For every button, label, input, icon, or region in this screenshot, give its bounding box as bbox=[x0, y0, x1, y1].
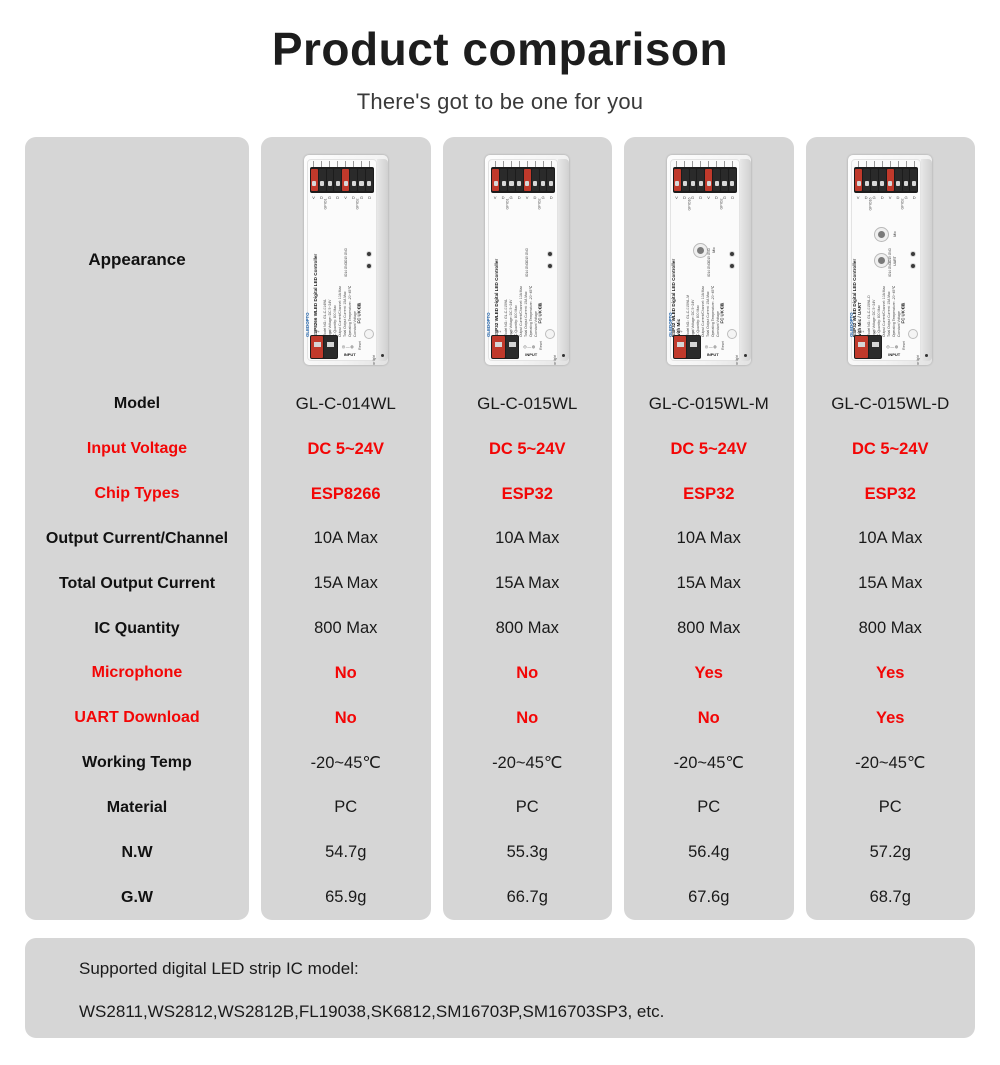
page-title: Product comparison bbox=[0, 24, 1000, 75]
terminal-pin bbox=[516, 169, 523, 191]
cell-uart-download-4: Yes bbox=[806, 696, 976, 741]
device-illustration: VDGDVDGDGPIO16GPIO2GLEDOPTOESP32 WLED Di… bbox=[848, 155, 932, 365]
cell-net-weight-3: 56.4g bbox=[624, 830, 794, 875]
product-image-1: VDGDVDGDGPIO1GPIO2GLEDOPTOESP8266 WLED D… bbox=[261, 137, 431, 382]
cell-working-temp-2: -20~45℃ bbox=[443, 741, 613, 786]
input-terminal-block bbox=[854, 335, 882, 359]
cell-total-output-current-1: 15A Max bbox=[261, 561, 431, 606]
io-pad-label: IO15 GND bbox=[344, 248, 348, 263]
reset-button[interactable] bbox=[908, 329, 918, 339]
input-label: INPUT bbox=[525, 352, 537, 357]
terminal-pin bbox=[895, 169, 902, 191]
terminal-pin bbox=[674, 169, 681, 191]
terminal-pin bbox=[540, 169, 547, 191]
row-label-microphone: Microphone bbox=[25, 651, 249, 696]
cell-input-voltage-4: DC 5~24V bbox=[806, 427, 976, 472]
pin-label: G bbox=[542, 195, 545, 200]
row-label-gross-weight: G.W bbox=[25, 875, 249, 920]
reset-label: Reset bbox=[902, 341, 906, 350]
input-terminal-block bbox=[310, 335, 338, 359]
footer-ic-list: WS2811,WS2812,WS2812B,FL19038,SK6812,SM1… bbox=[79, 1003, 921, 1022]
device-illustration: VDGDVDGDGPIO16GPIO2GLEDOPTOESP32 WLED Di… bbox=[667, 155, 751, 365]
cell-input-voltage-2: DC 5~24V bbox=[443, 427, 613, 472]
indicator-light bbox=[744, 354, 747, 357]
output-terminal-block bbox=[310, 167, 374, 193]
terminal-pin bbox=[532, 169, 539, 191]
pin-label: D bbox=[699, 195, 702, 200]
cell-input-voltage-3: DC 5~24V bbox=[624, 427, 794, 472]
comparison-grid: Appearance Model Input Voltage Chip Type… bbox=[25, 137, 975, 920]
pin-labels: VDGDVDGD bbox=[673, 195, 737, 200]
certification-marks: CEUK CAFC bbox=[352, 300, 366, 319]
cell-microphone-4: Yes bbox=[806, 651, 976, 696]
microphone-label: Mic bbox=[893, 231, 897, 237]
pin-label: V bbox=[857, 195, 860, 200]
row-label-uart-download: UART Download bbox=[25, 696, 249, 741]
appearance-label-cell: Appearance bbox=[25, 137, 249, 382]
pin-label: V bbox=[675, 195, 678, 200]
spec-line: Total Output Current: 15A Max bbox=[887, 291, 891, 337]
io-pad-label: IO14 GND bbox=[344, 262, 348, 277]
page-header: Product comparison There's got to be one… bbox=[0, 0, 1000, 115]
cell-gross-weight-3: 67.6g bbox=[624, 875, 794, 920]
microphone-label: Mic bbox=[712, 247, 716, 253]
product-column-1[interactable]: VDGDVDGDGPIO1GPIO2GLEDOPTOESP8266 WLED D… bbox=[261, 137, 431, 920]
io-button bbox=[547, 251, 553, 257]
cell-chip-type-4: ESP32 bbox=[806, 472, 976, 517]
terminal-pin bbox=[358, 169, 365, 191]
input-pin-positive bbox=[855, 336, 868, 358]
pin-label: D bbox=[534, 195, 537, 200]
cell-gross-weight-4: 68.7g bbox=[806, 875, 976, 920]
reset-label: Reset bbox=[358, 341, 362, 350]
row-label-model: Model bbox=[25, 382, 249, 427]
supported-ic-footer: Supported digital LED strip IC model: WS… bbox=[25, 938, 975, 1038]
io-pad-label: IO14 GND bbox=[888, 262, 892, 277]
input-pin-positive bbox=[492, 336, 505, 358]
product-image-4: VDGDVDGDGPIO16GPIO2GLEDOPTOESP32 WLED Di… bbox=[806, 137, 976, 382]
certification-marks: CEUK CAFC bbox=[533, 300, 547, 319]
silkscreen-text: GLEDOPTOESP32 WLED Digital LED Controlle… bbox=[489, 233, 553, 341]
input-terminal-block bbox=[673, 335, 701, 359]
input-pin-label: V- bbox=[873, 330, 876, 334]
pin-label: V bbox=[344, 195, 347, 200]
silkscreen-text: GLEDOPTOESP32 WLED Digital LED Controlle… bbox=[852, 233, 916, 341]
cell-model-3: GL-C-015WL-M bbox=[624, 382, 794, 427]
gpio-label: GPIO16 bbox=[869, 197, 873, 210]
cell-microphone-3: Yes bbox=[624, 651, 794, 696]
product-column-2[interactable]: VDGDVDGDGPIO1GPIO2GLEDOPTOESP32 WLED Dig… bbox=[443, 137, 613, 920]
spec-line: Output Current/Channel: 10A Max bbox=[882, 285, 886, 336]
io-button bbox=[910, 251, 916, 257]
terminal-pin bbox=[500, 169, 507, 191]
microphone-icon bbox=[693, 243, 708, 258]
input-pin-negative bbox=[506, 336, 519, 358]
input-pin-label: V+ bbox=[497, 330, 502, 334]
io-button bbox=[366, 263, 372, 269]
pin-label: G bbox=[873, 195, 876, 200]
io-pad-label: IO14 GND bbox=[707, 262, 711, 277]
spec-line: Output Current/Channel: 10A Max bbox=[519, 285, 523, 336]
gpio-labels: GPIO1GPIO2 bbox=[310, 202, 374, 206]
dimension-label: 3.15 inch (80.0mm) bbox=[387, 185, 388, 211]
cell-model-4: GL-C-015WL-D bbox=[806, 382, 976, 427]
pin-label: G bbox=[905, 195, 908, 200]
pin-label: V bbox=[526, 195, 529, 200]
terminal-pin bbox=[524, 169, 531, 191]
cell-microphone-1: No bbox=[261, 651, 431, 696]
terminal-pin bbox=[705, 169, 712, 191]
row-label-ic-quantity: IC Quantity bbox=[25, 606, 249, 651]
cell-uart-download-2: No bbox=[443, 696, 613, 741]
pin-label: D bbox=[731, 195, 734, 200]
polarity-icon: ◎—◍ bbox=[886, 344, 898, 349]
io-button bbox=[366, 251, 372, 257]
cell-total-output-current-4: 15A Max bbox=[806, 561, 976, 606]
terminal-pin bbox=[682, 169, 689, 191]
pin-label: G bbox=[328, 195, 331, 200]
terminal-pin bbox=[903, 169, 910, 191]
io-pad-label: IO15 GND bbox=[888, 248, 892, 263]
microphone-icon bbox=[874, 227, 889, 242]
cell-total-output-current-2: 15A Max bbox=[443, 561, 613, 606]
io-pad-label: IO14 GND bbox=[525, 262, 529, 277]
cell-net-weight-2: 55.3g bbox=[443, 830, 613, 875]
reset-label: Reset bbox=[539, 341, 543, 350]
brand-name: GLEDOPTO bbox=[305, 312, 310, 337]
indicator-light bbox=[562, 354, 565, 357]
input-pin-positive bbox=[311, 336, 324, 358]
terminal-pin bbox=[350, 169, 357, 191]
indicator-light-label: Indicator light bbox=[372, 355, 376, 365]
row-label-material: Material bbox=[25, 785, 249, 830]
terminal-pin bbox=[855, 169, 862, 191]
input-pin-positive bbox=[674, 336, 687, 358]
gpio-label: GPIO1 bbox=[505, 198, 509, 209]
pin-label: D bbox=[913, 195, 916, 200]
input-pin-negative bbox=[869, 336, 882, 358]
input-label: INPUT bbox=[888, 352, 900, 357]
pin-label: V bbox=[312, 195, 315, 200]
pin-label: G bbox=[691, 195, 694, 200]
gpio-labels: GPIO16GPIO2 bbox=[673, 202, 737, 206]
cert-mark: FC bbox=[356, 309, 361, 323]
cell-model-2: GL-C-015WL bbox=[443, 382, 613, 427]
terminal-pin bbox=[366, 169, 373, 191]
terminal-pin bbox=[327, 169, 334, 191]
pin-label: D bbox=[683, 195, 686, 200]
input-pin-label: V+ bbox=[315, 330, 320, 334]
gpio-label: GPIO2 bbox=[901, 198, 905, 209]
cell-material-4: PC bbox=[806, 785, 976, 830]
pin-label: D bbox=[865, 195, 868, 200]
pin-label: D bbox=[518, 195, 521, 200]
io-button bbox=[729, 251, 735, 257]
pin-labels: VDGDVDGD bbox=[310, 195, 374, 200]
pin-label: V bbox=[707, 195, 710, 200]
terminal-pin bbox=[690, 169, 697, 191]
pin-label: D bbox=[715, 195, 718, 200]
uart-label: UART bbox=[893, 256, 897, 266]
indicator-light bbox=[925, 354, 928, 357]
reset-button[interactable] bbox=[727, 329, 737, 339]
row-label-appearance: Appearance bbox=[88, 250, 185, 270]
spec-line: Total Output Current: 15A Max bbox=[524, 291, 528, 337]
dimension-label: 3.15 inch (80.0mm) bbox=[931, 185, 932, 211]
spec-line: Output Current/Channel: 10A Max bbox=[701, 285, 705, 336]
device-title: ESP32 WLED Digital LED Controllerwith Mi… bbox=[852, 258, 862, 336]
io-pad-label: IO15 GND bbox=[525, 248, 529, 263]
certification-marks: CEUK CAFC bbox=[715, 300, 729, 319]
terminal-pin bbox=[492, 169, 499, 191]
cell-working-temp-1: -20~45℃ bbox=[261, 741, 431, 786]
cell-material-2: PC bbox=[443, 785, 613, 830]
row-label-input-voltage: Input Voltage bbox=[25, 427, 249, 472]
polarity-icon: ◎—◍ bbox=[523, 344, 535, 349]
cert-mark: FC bbox=[538, 309, 543, 323]
terminal-pin bbox=[910, 169, 917, 191]
cell-input-voltage-1: DC 5~24V bbox=[261, 427, 431, 472]
certification-marks: CEUK CAFC bbox=[896, 300, 910, 319]
terminal-pin bbox=[721, 169, 728, 191]
terminal-screws bbox=[854, 161, 918, 167]
terminal-pin bbox=[871, 169, 878, 191]
terminal-pin bbox=[319, 169, 326, 191]
cell-model-1: GL-C-014WL bbox=[261, 382, 431, 427]
io-button bbox=[910, 263, 916, 269]
device-title: ESP32 WLED Digital LED Controller bbox=[494, 258, 499, 336]
cell-working-temp-4: -20~45℃ bbox=[806, 741, 976, 786]
indicator-light-label: Indicator light bbox=[916, 355, 920, 365]
pin-label: D bbox=[881, 195, 884, 200]
row-label-column: Appearance Model Input Voltage Chip Type… bbox=[25, 137, 249, 920]
cell-material-1: PC bbox=[261, 785, 431, 830]
input-pin-negative bbox=[687, 336, 700, 358]
device-illustration: VDGDVDGDGPIO1GPIO2GLEDOPTOESP32 WLED Dig… bbox=[485, 155, 569, 365]
cell-output-current-channel-3: 10A Max bbox=[624, 516, 794, 561]
terminal-pin bbox=[879, 169, 886, 191]
pin-label: D bbox=[502, 195, 505, 200]
gpio-label: GPIO2 bbox=[356, 198, 360, 209]
cell-ic-quantity-2: 800 Max bbox=[443, 606, 613, 651]
pin-labels: VDGDVDGD bbox=[491, 195, 555, 200]
cell-chip-type-2: ESP32 bbox=[443, 472, 613, 517]
terminal-pin bbox=[547, 169, 554, 191]
gpio-label: GPIO2 bbox=[537, 198, 541, 209]
row-label-output-current-channel: Output Current/Channel bbox=[25, 516, 249, 561]
indicator-light-label: Indicator light bbox=[553, 355, 557, 365]
reset-button[interactable] bbox=[545, 329, 555, 339]
cert-mark: FC bbox=[719, 309, 724, 323]
input-pin-label: V- bbox=[510, 330, 513, 334]
input-pin-labels: V+V- bbox=[311, 330, 337, 334]
cell-ic-quantity-4: 800 Max bbox=[806, 606, 976, 651]
device-title: ESP8266 WLED Digital LED Controller bbox=[313, 253, 318, 336]
cell-uart-download-3: No bbox=[624, 696, 794, 741]
device-illustration: VDGDVDGDGPIO1GPIO2GLEDOPTOESP8266 WLED D… bbox=[304, 155, 388, 365]
cell-microphone-2: No bbox=[443, 651, 613, 696]
cell-output-current-channel-1: 10A Max bbox=[261, 516, 431, 561]
reset-button[interactable] bbox=[364, 329, 374, 339]
terminal-pin bbox=[508, 169, 515, 191]
product-image-3: VDGDVDGDGPIO16GPIO2GLEDOPTOESP32 WLED Di… bbox=[624, 137, 794, 382]
terminal-screws bbox=[310, 161, 374, 167]
input-pin-labels: V+V- bbox=[674, 330, 700, 334]
brand-name: GLEDOPTO bbox=[486, 312, 491, 337]
cell-ic-quantity-1: 800 Max bbox=[261, 606, 431, 651]
polarity-icon: ◎—◍ bbox=[342, 344, 354, 349]
pin-labels: VDGDVDGD bbox=[854, 195, 918, 200]
terminal-pin bbox=[342, 169, 349, 191]
io-button bbox=[547, 263, 553, 269]
device-title: ESP32 WLED Digital LED Controllerwith Mi… bbox=[671, 258, 681, 336]
pin-label: D bbox=[897, 195, 900, 200]
spec-line: Total Output Current: 15A Max bbox=[343, 291, 347, 337]
row-label-total-output-current: Total Output Current bbox=[25, 561, 249, 606]
terminal-pin bbox=[334, 169, 341, 191]
pin-label: D bbox=[550, 195, 553, 200]
gpio-label: GPIO2 bbox=[719, 198, 723, 209]
cell-output-current-channel-2: 10A Max bbox=[443, 516, 613, 561]
pin-label: D bbox=[352, 195, 355, 200]
product-column-4[interactable]: VDGDVDGDGPIO16GPIO2GLEDOPTOESP32 WLED Di… bbox=[806, 137, 976, 920]
cell-chip-type-1: ESP8266 bbox=[261, 472, 431, 517]
input-pin-label: V+ bbox=[678, 330, 683, 334]
page-subtitle: There's got to be one for you bbox=[0, 89, 1000, 115]
input-terminal-block bbox=[491, 335, 519, 359]
cell-net-weight-4: 57.2g bbox=[806, 830, 976, 875]
pin-label: D bbox=[336, 195, 339, 200]
row-label-working-temp: Working Temp bbox=[25, 741, 249, 786]
io-button bbox=[729, 263, 735, 269]
row-label-net-weight: N.W bbox=[25, 830, 249, 875]
terminal-pin bbox=[863, 169, 870, 191]
cell-working-temp-3: -20~45℃ bbox=[624, 741, 794, 786]
io-pad-label: IO15 GND bbox=[707, 248, 711, 263]
cert-mark: FC bbox=[901, 309, 906, 323]
cell-uart-download-1: No bbox=[261, 696, 431, 741]
terminal-pin bbox=[713, 169, 720, 191]
dimension-label: 3.15 inch (80.0mm) bbox=[750, 185, 751, 211]
input-pin-label: V- bbox=[692, 330, 695, 334]
polarity-icon: ◎—◍ bbox=[705, 344, 717, 349]
output-terminal-block bbox=[854, 167, 918, 193]
row-label-chip-types: Chip Types bbox=[25, 472, 249, 517]
product-column-3[interactable]: VDGDVDGDGPIO16GPIO2GLEDOPTOESP32 WLED Di… bbox=[624, 137, 794, 920]
gpio-labels: GPIO1GPIO2 bbox=[491, 202, 555, 206]
pin-label: G bbox=[510, 195, 513, 200]
output-terminal-block bbox=[491, 167, 555, 193]
footer-heading: Supported digital LED strip IC model: bbox=[79, 960, 921, 979]
pin-label: G bbox=[360, 195, 363, 200]
cell-gross-weight-1: 65.9g bbox=[261, 875, 431, 920]
input-label: INPUT bbox=[707, 352, 719, 357]
spec-line: Output Current/Channel: 10A Max bbox=[338, 285, 342, 336]
terminal-pin bbox=[697, 169, 704, 191]
product-image-2: VDGDVDGDGPIO1GPIO2GLEDOPTOESP32 WLED Dig… bbox=[443, 137, 613, 382]
cell-gross-weight-2: 66.7g bbox=[443, 875, 613, 920]
spec-line: Total Output Current: 15A Max bbox=[706, 291, 710, 337]
cell-total-output-current-3: 15A Max bbox=[624, 561, 794, 606]
input-pin-label: V+ bbox=[860, 330, 865, 334]
gpio-label: GPIO16 bbox=[687, 197, 691, 210]
indicator-light bbox=[381, 354, 384, 357]
cell-net-weight-1: 54.7g bbox=[261, 830, 431, 875]
uart-icon bbox=[874, 253, 889, 268]
input-pin-labels: V+V- bbox=[492, 330, 518, 334]
input-pin-label: V- bbox=[329, 330, 332, 334]
cell-ic-quantity-3: 800 Max bbox=[624, 606, 794, 651]
silkscreen-text: GLEDOPTOESP8266 WLED Digital LED Control… bbox=[308, 233, 372, 341]
dimension-label: 3.15 inch (80.0mm) bbox=[568, 185, 569, 211]
input-pin-negative bbox=[324, 336, 337, 358]
pin-label: D bbox=[368, 195, 371, 200]
terminal-pin bbox=[311, 169, 318, 191]
gpio-labels: GPIO16GPIO2 bbox=[854, 202, 918, 206]
reset-label: Reset bbox=[721, 341, 725, 350]
cell-chip-type-3: ESP32 bbox=[624, 472, 794, 517]
cell-material-3: PC bbox=[624, 785, 794, 830]
terminal-screws bbox=[673, 161, 737, 167]
terminal-screws bbox=[491, 161, 555, 167]
cell-output-current-channel-4: 10A Max bbox=[806, 516, 976, 561]
output-terminal-block bbox=[673, 167, 737, 193]
input-pin-labels: V+V- bbox=[855, 330, 881, 334]
indicator-light-label: Indicator light bbox=[735, 355, 739, 365]
pin-label: V bbox=[889, 195, 892, 200]
terminal-pin bbox=[729, 169, 736, 191]
terminal-pin bbox=[887, 169, 894, 191]
gpio-label: GPIO1 bbox=[324, 198, 328, 209]
pin-label: V bbox=[494, 195, 497, 200]
input-label: INPUT bbox=[344, 352, 356, 357]
